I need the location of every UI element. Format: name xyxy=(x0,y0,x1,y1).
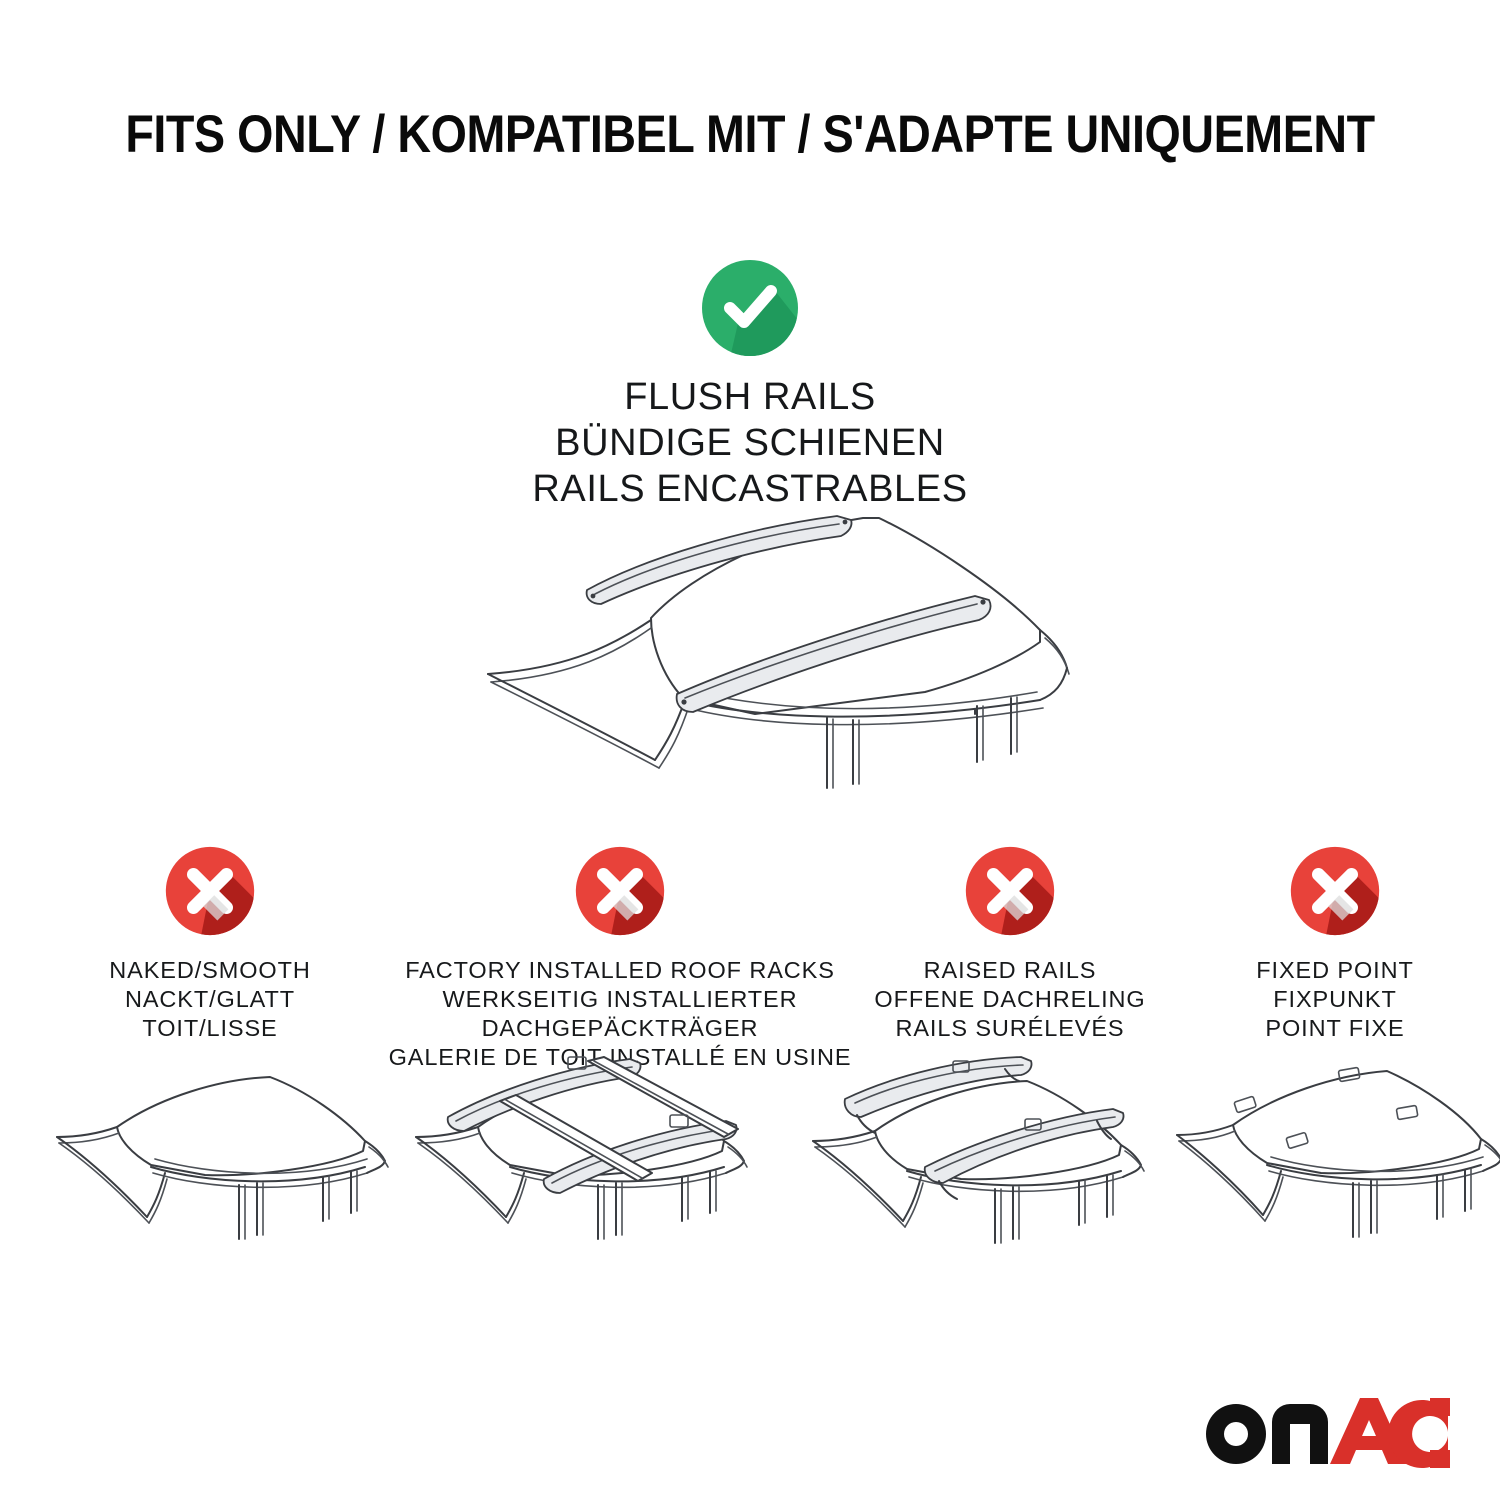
red-x-circle-icon xyxy=(164,845,256,937)
car-roof-fixed-point-illustration xyxy=(1175,1055,1500,1285)
caption-line-en: FIXED POINT xyxy=(1185,956,1485,985)
compatible-label-en: FLUSH RAILS xyxy=(0,374,1500,420)
brand-logo-omac xyxy=(1202,1394,1452,1472)
page-title: FITS ONLY / KOMPATIBEL MIT / S'ADAPTE UN… xyxy=(90,104,1410,165)
incompatible-caption: RAISED RAILS OFFENE DACHRELING RAILS SUR… xyxy=(845,956,1175,1043)
compatible-section: FLUSH RAILS BÜNDIGE SCHIENEN RAILS ENCAS… xyxy=(0,258,1500,512)
product-fitment-infographic: FITS ONLY / KOMPATIBEL MIT / S'ADAPTE UN… xyxy=(0,0,1500,1500)
incompatible-caption: FIXED POINT FIXPUNKT POINT FIXE xyxy=(1185,956,1485,1043)
caption-line-fr: POINT FIXE xyxy=(1185,1014,1485,1043)
caption-line-de: NACKT/GLATT xyxy=(45,985,375,1014)
caption-line-en: FACTORY INSTALLED ROOF RACKS xyxy=(385,956,855,985)
incompatible-caption: NAKED/SMOOTH NACKT/GLATT TOIT/LISSE xyxy=(45,956,375,1043)
caption-line-de-1: WERKSEITIG INSTALLIERTER xyxy=(385,985,855,1014)
red-x-circle-icon xyxy=(1289,845,1381,937)
incompatible-item-factory-roof-racks: FACTORY INSTALLED ROOF RACKS WERKSEITIG … xyxy=(385,845,855,1072)
incompatible-item-fixed-point: FIXED POINT FIXPUNKT POINT FIXE xyxy=(1185,845,1485,1043)
incompatible-item-raised-rails: RAISED RAILS OFFENE DACHRELING RAILS SUR… xyxy=(845,845,1175,1043)
caption-line-de: FIXPUNKT xyxy=(1185,985,1485,1014)
green-check-circle-icon xyxy=(700,258,800,358)
compatible-label-de: BÜNDIGE SCHIENEN xyxy=(0,420,1500,466)
caption-line-de-2: DACHGEPÄCKTRÄGER xyxy=(385,1014,855,1043)
caption-line-en: RAISED RAILS xyxy=(845,956,1175,985)
incompatible-item-naked-smooth: NAKED/SMOOTH NACKT/GLATT TOIT/LISSE xyxy=(45,845,375,1043)
car-roof-with-flush-rails-illustration xyxy=(455,492,1075,792)
caption-line-de: OFFENE DACHRELING xyxy=(845,985,1175,1014)
caption-line-en: NAKED/SMOOTH xyxy=(45,956,375,985)
car-roof-raised-rails-illustration xyxy=(805,1055,1165,1285)
car-roof-naked-smooth-illustration xyxy=(55,1055,405,1285)
caption-line-fr: RAILS SURÉLEVÉS xyxy=(845,1014,1175,1043)
red-x-circle-icon xyxy=(964,845,1056,937)
car-roof-factory-installed-roof-racks-illustration xyxy=(408,1055,768,1285)
caption-line-fr: TOIT/LISSE xyxy=(45,1014,375,1043)
red-x-circle-icon xyxy=(574,845,666,937)
